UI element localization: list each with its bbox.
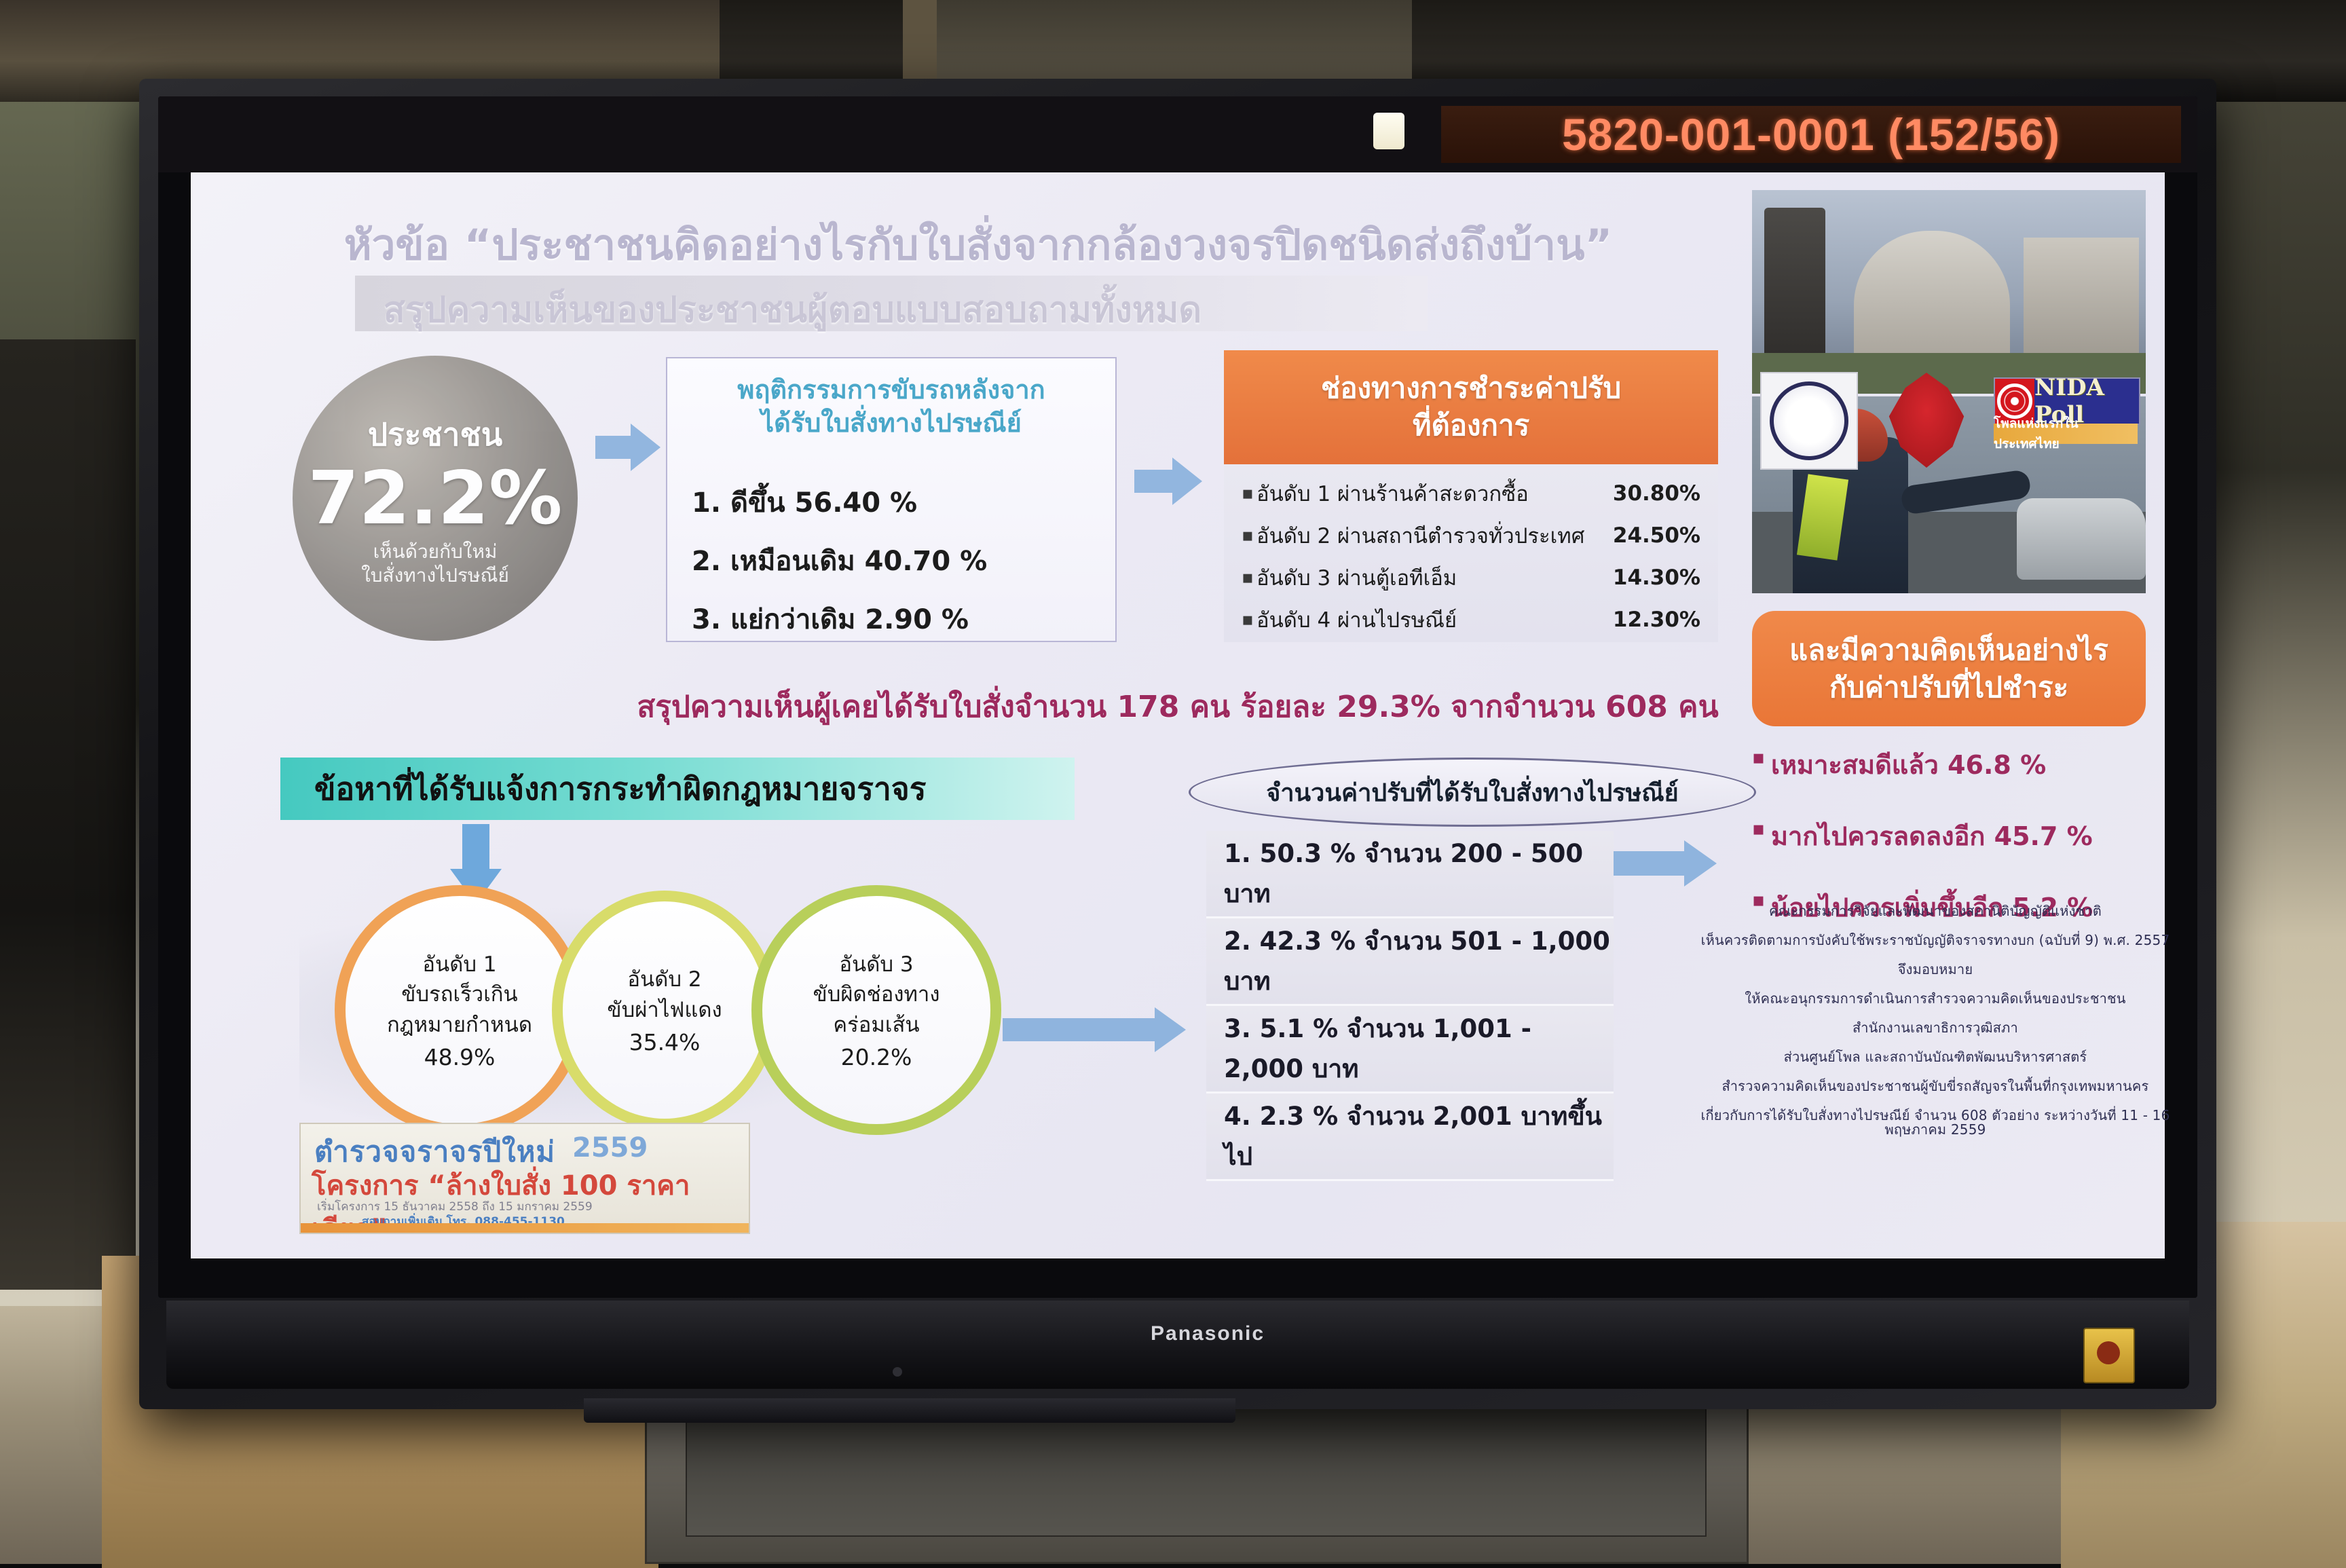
- slide-surface: 5820-001-0001 (152/56) หัวข้อ “ประชาชนคิ…: [158, 96, 2197, 1298]
- offense-ring-2-value: 35.4%: [629, 1029, 701, 1056]
- slide-title: หัวข้อ “ประชาชนคิดอย่างไรกับใบสั่งจากกล้…: [313, 212, 1643, 278]
- payment-channel-value-4: 12.30%: [1599, 608, 1700, 632]
- payment-channel-heading-l2: ที่ต้องการ: [1413, 407, 1529, 445]
- driving-behavior-heading: พฤติกรรมการขับรถหลังจาก ได้รับใบสั่งทางไ…: [667, 373, 1115, 439]
- building-secondary: [2024, 238, 2139, 367]
- opinion-text-1: เหมาะสมดีแล้ว 46.8 %: [1771, 744, 2046, 785]
- offense-ring-1-value: 48.9%: [424, 1044, 496, 1070]
- opinion-item: ▪ มากไปควรลดลงอีก 45.7 %: [1752, 815, 2159, 857]
- campaign-banner-strip: [301, 1223, 749, 1233]
- television: Panasonic 5820-001-0001 (152/56) หัวข้อ …: [139, 79, 2216, 1409]
- tv-stand: [584, 1398, 1235, 1423]
- payment-channel-value-3: 14.30%: [1599, 565, 1700, 590]
- tv-sticker-badge: [2083, 1328, 2135, 1383]
- car-in-photo: [2017, 498, 2146, 580]
- headline-stat-value: 72.2%: [308, 462, 563, 536]
- footnote-line-8: เกี่ยวกับการได้รับใบสั่งทางไปรษณีย์ จำนว…: [1677, 1108, 2193, 1137]
- side-panel: [0, 339, 136, 1290]
- fine-amount-oval-text: จำนวนค่าปรับที่ได้รับใบสั่งทางไปรษณีย์: [1266, 773, 1679, 812]
- statue-figure: [1764, 208, 1825, 364]
- headline-stat-sub2: ใบสั่งทางไปรษณีย์: [361, 563, 509, 587]
- driving-behavior-heading-l1: พฤติกรรมการขับรถหลังจาก: [667, 373, 1115, 407]
- campaign-banner-year: 2559: [572, 1132, 648, 1163]
- headline-stat-label: ประชาชน: [368, 410, 502, 460]
- bullet-icon: ▪: [1242, 567, 1256, 588]
- footnote-line-5: สำนักงานเลขาธิการวุฒิสภา: [1677, 1021, 2193, 1035]
- payment-channel-heading-l1: ช่องทางการชำระค่าปรับ: [1321, 370, 1621, 407]
- slide-body: หัวข้อ “ประชาชนคิดอย่างไรกับใบสั่งจากกล้…: [191, 172, 2165, 1258]
- footnote-line-2: เห็นควรติดตามการบังคับใช้พระราชบัญญัติจร…: [1677, 933, 2193, 948]
- payment-channel-row: ▪ อันดับ 1 ผ่านร้านค้าสะดวกซื้อ 30.80%: [1242, 477, 1700, 510]
- footnote-line-1: คณะกรรมการวิจัยและพัฒนาของสภานิติบัญญัติ…: [1677, 904, 2193, 918]
- payment-channel-row: ▪ อันดับ 3 ผ่านตู้เอทีเอ็ม 14.30%: [1242, 561, 1700, 595]
- fine-amount-row: 3. 5.1 % จำนวน 1,001 - 2,000 บาท: [1206, 1006, 1614, 1094]
- bullet-icon: ▪: [1752, 815, 1771, 842]
- offense-ring-2-line1: ขับผ่าไฟแดง: [607, 995, 722, 1025]
- campaign-banner: ตำรวจจราจรปีใหม่ 2559 โครงการ “ล้างใบสั่…: [299, 1123, 750, 1234]
- footnote-line-6: ส่วนศูนย์โพล และสถาบันบัณฑิตพัฒนบริหารศา…: [1677, 1050, 2193, 1064]
- driving-behavior-box: พฤติกรรมการขับรถหลังจาก ได้รับใบสั่งทางไ…: [666, 357, 1117, 642]
- fine-amount-oval: จำนวนค่าปรับที่ได้รับใบสั่งทางไปรษณีย์: [1189, 758, 1756, 827]
- payment-channel-row: ▪ อันดับ 4 ผ่านไปรษณีย์ 12.30%: [1242, 603, 1700, 637]
- slide-subtitle: สรุปความเห็นของประชาชนผู้ตอบแบบสอบถามทั้…: [384, 281, 1202, 337]
- offense-ring-3: อันดับ 3 ขับผิดช่องทาง คร่อมเส้น 20.2%: [751, 885, 1001, 1135]
- payment-channel-value-1: 30.80%: [1599, 481, 1700, 506]
- payment-channel-rows: ▪ อันดับ 1 ผ่านร้านค้าสะดวกซื้อ 30.80% ▪…: [1224, 464, 1718, 642]
- offense-ring-2-rank: อันดับ 2: [627, 965, 701, 994]
- offense-ring-2: อันดับ 2 ขับผ่าไฟแดง 35.4%: [552, 891, 777, 1130]
- fine-amount-text-2: 2. 42.3 % จำนวน 501 - 1,000 บาท: [1224, 921, 1614, 1001]
- payment-channel-label-3: อันดับ 3 ผ่านตู้เอทีเอ็ม: [1256, 561, 1599, 595]
- tv-screen: 5820-001-0001 (152/56) หัวข้อ “ประชาชนคิ…: [158, 96, 2197, 1298]
- headline-stat-sub1: เห็นด้วยกับใหม่: [373, 540, 498, 563]
- fine-amount-text-3: 3. 5.1 % จำนวน 1,001 - 2,000 บาท: [1224, 1009, 1614, 1089]
- footnote-block: คณะกรรมการวิจัยและพัฒนาของสภานิติบัญญัติ…: [1677, 904, 2193, 1152]
- footnote-line-7: สำรวจความคิดเห็นของประชาชนผู้ขับขี่รถสัญ…: [1677, 1079, 2193, 1094]
- fine-amount-text-1: 1. 50.3 % จำนวน 200 - 500 บาท: [1224, 834, 1614, 914]
- footnote-line-3: จึงมอบหมาย: [1677, 963, 2193, 977]
- fine-amount-list: 1. 50.3 % จำนวน 200 - 500 บาท 2. 42.3 % …: [1206, 831, 1614, 1197]
- payment-channel-label-2: อันดับ 2 ผ่านสถานีตำรวจทั่วประเทศ: [1256, 519, 1599, 553]
- document-code-badge: 5820-001-0001 (152/56): [1441, 106, 2181, 163]
- building-dome: [1854, 231, 2010, 367]
- footnote-line-4: ให้คณะอนุกรรมการดำเนินการสำรวจความคิดเห็…: [1677, 992, 2193, 1006]
- offense-ring-3-value: 20.2%: [841, 1044, 912, 1070]
- bullet-icon: ▪: [1752, 744, 1771, 770]
- payment-channel-heading: ช่องทางการชำระค่าปรับ ที่ต้องการ: [1224, 350, 1718, 464]
- offense-ring-1-line2: กฎหมายกำหนด: [387, 1010, 532, 1040]
- payment-channel-row: ▪ อันดับ 2 ผ่านสถานีตำรวจทั่วประเทศ 24.5…: [1242, 519, 1700, 553]
- offense-ring-1-line1: ขับรถเร็วเกิน: [401, 979, 518, 1009]
- opinion-header-box: และมีความคิดเห็นอย่างไร กับค่าปรับที่ไปช…: [1752, 611, 2146, 726]
- nida-tagline-text: โพลแห่งแรกในประเทศไทย: [1994, 413, 2138, 454]
- offense-header-bar: ข้อหาที่ได้รับแจ้งการกระทำผิดกฎหมายจราจร: [280, 758, 1075, 820]
- institution-seal-card: [1760, 372, 1858, 470]
- fine-amount-row: 4. 2.3 % จำนวน 2,001 บาทขึ้นไป: [1206, 1094, 1614, 1181]
- bullet-icon: ▪: [1242, 610, 1256, 630]
- fine-amount-row: 1. 50.3 % จำนวน 200 - 500 บาท: [1206, 831, 1614, 918]
- driving-behavior-heading-l2: ได้รับใบสั่งทางไปรษณีย์: [667, 407, 1115, 440]
- driving-behavior-item-3: 3. แย่กว่าเดิม 2.90 %: [692, 597, 969, 641]
- nida-tagline-bar: โพลแห่งแรกในประเทศไทย: [1994, 424, 2138, 444]
- offense-ring-1: อันดับ 1 ขับรถเร็วเกิน กฎหมายกำหนด 48.9%: [335, 885, 584, 1135]
- header-white-marker: [1373, 113, 1404, 149]
- fine-amount-text-4: 4. 2.3 % จำนวน 2,001 บาทขึ้นไป: [1224, 1096, 1614, 1176]
- opinion-item: ▪ เหมาะสมดีแล้ว 46.8 %: [1752, 744, 2159, 785]
- offense-ring-1-rank: อันดับ 1: [422, 950, 496, 979]
- bullet-icon: ▪: [1242, 483, 1256, 504]
- slide-subtitle-bar: สรุปความเห็นของประชาชนผู้ตอบแบบสอบถามทั้…: [355, 276, 1428, 331]
- garuda-icon: [1886, 373, 1967, 468]
- logo-row: NIDA Poll โพลแห่งแรกในประเทศไทย: [1752, 362, 2146, 485]
- document-code-text: 5820-001-0001 (152/56): [1562, 109, 2060, 160]
- payment-channel-box: ช่องทางการชำระค่าปรับ ที่ต้องการ ▪ อันดั…: [1224, 350, 1718, 642]
- garuda-emblem: [1876, 369, 1977, 471]
- bullet-icon: ▪: [1242, 525, 1256, 546]
- slide-header-band: 5820-001-0001 (152/56): [158, 96, 2197, 172]
- power-led: [893, 1367, 902, 1377]
- headline-stat-circle: ประชาชน 72.2% เห็นด้วยกับใหม่ ใบสั่งทางไ…: [293, 356, 578, 641]
- payment-channel-label-1: อันดับ 1 ผ่านร้านค้าสะดวกซื้อ: [1256, 477, 1599, 510]
- fine-amount-row: 2. 42.3 % จำนวน 501 - 1,000 บาท: [1206, 918, 1614, 1006]
- opinion-text-2: มากไปควรลดลงอีก 45.7 %: [1771, 815, 2093, 857]
- opinion-header-l1: และมีความคิดเห็นอย่างไร: [1789, 631, 2108, 669]
- offense-ring-3-line2: คร่อมเส้น: [833, 1010, 919, 1040]
- offense-ring-3-line1: ขับผิดช่องทาง: [813, 979, 940, 1009]
- institution-seal-icon: [1770, 381, 1848, 460]
- offense-ring-3-rank: อันดับ 3: [839, 950, 913, 979]
- payment-channel-label-4: อันดับ 4 ผ่านไปรษณีย์: [1256, 603, 1599, 637]
- opinion-header-l2: กับค่าปรับที่ไปชำระ: [1829, 669, 2068, 706]
- offense-header-text: ข้อหาที่ได้รับแจ้งการกระทำผิดกฎหมายจราจร: [314, 764, 926, 814]
- payment-channel-value-2: 24.50%: [1599, 523, 1700, 548]
- driving-behavior-item-1: 1. ดีขึ้น 56.40 %: [692, 481, 917, 524]
- tv-brand-label: Panasonic: [1151, 1322, 1265, 1345]
- driving-behavior-item-2: 2. เหมือนเดิม 40.70 %: [692, 539, 987, 582]
